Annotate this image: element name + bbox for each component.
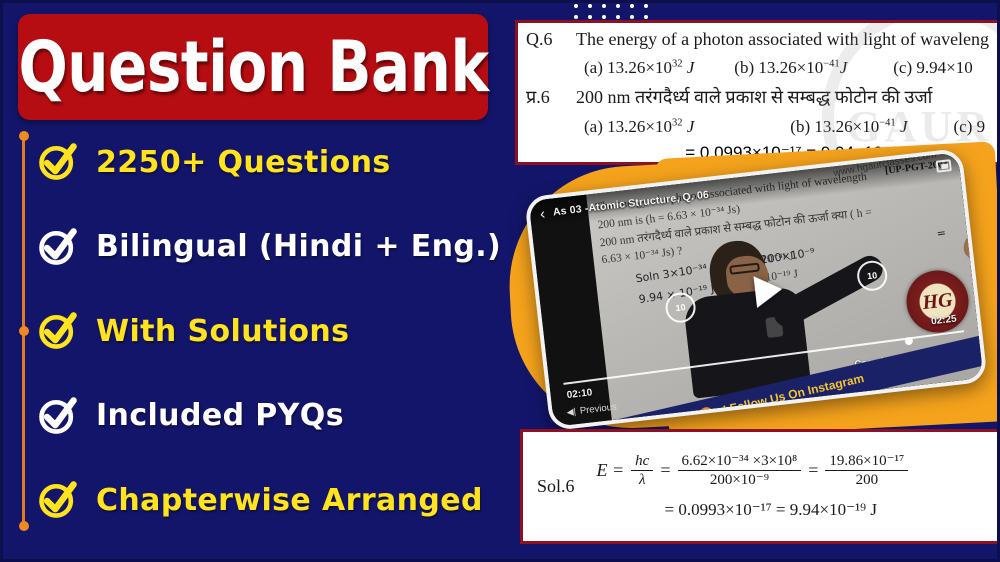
question-en-row: Q.6 The energy of a photon associated wi…	[518, 29, 1000, 50]
play-icon[interactable]	[753, 273, 783, 308]
question-hi-tag: प्र.6	[518, 85, 576, 109]
option-a: (a) 13.26×1032 J	[584, 117, 694, 137]
equals-1: =	[660, 460, 670, 481]
right-panel: GAUR Q.6 The energy of a photon associat…	[512, 0, 1000, 562]
title-card: Question Bank	[18, 14, 488, 120]
question-hi-options: (a) 13.26×1032 J (b) 13.26×10−41 J (c) 9	[518, 117, 1000, 137]
solution-equation-line-2: = 0.0993×10⁻¹⁷ = 9.94×10⁻¹⁹ J	[597, 500, 909, 520]
time-elapsed: 02:10	[566, 387, 593, 401]
equals-2: =	[808, 460, 818, 481]
solution-final: = 0.0993×10⁻¹⁷ = 9.94×10⁻¹⁹ J	[665, 500, 877, 520]
page-title: Question Bank	[18, 32, 488, 102]
solution-tag: Sol.6	[537, 476, 575, 497]
solution-body: E = hc λ = 6.62×10⁻³⁴ ×3×10⁸ 200×10⁻⁹ = …	[597, 453, 909, 520]
question-card: GAUR Q.6 The energy of a photon associat…	[515, 20, 1000, 165]
rewind-label: 10	[675, 302, 686, 313]
previous-icon: ◀|	[566, 406, 576, 418]
question-hi-text: 200 nm तरंगदैर्ध्य वाले प्रकाश से सम्बद्…	[576, 85, 932, 109]
board-sol-label: Soln	[635, 269, 660, 285]
list-item: With Solutions	[36, 300, 506, 362]
question-en-tag: Q.6	[518, 29, 576, 50]
feature-label: Included PYQs	[96, 398, 344, 433]
fraction-numerator: 19.86×10⁻¹⁷	[825, 453, 908, 471]
feature-label: Bilingual (Hindi + Eng.)	[96, 229, 501, 264]
brand-logo-text: HG	[921, 288, 953, 314]
question-hi-row: प्र.6 200 nm तरंगदैर्ध्य वाले प्रकाश से …	[518, 85, 1000, 109]
fraction-values: 6.62×10⁻³⁴ ×3×10⁸ 200×10⁻⁹	[678, 453, 802, 488]
fraction-denominator: 200	[852, 471, 883, 488]
question-en-text: The energy of a photon associated with l…	[576, 29, 989, 50]
feature-label: 2250+ Questions	[96, 145, 391, 180]
list-item: 2250+ Questions	[36, 131, 506, 193]
previous-button[interactable]: ◀| Previous	[566, 402, 617, 419]
fraction-numerator: hc	[631, 453, 653, 471]
feature-label: Chapterwise Arranged	[96, 483, 483, 518]
list-item: Chapterwise Arranged	[36, 469, 506, 531]
timeline-dot-top	[19, 131, 29, 141]
option-a: (a) 13.26×1032 J	[584, 58, 694, 78]
left-panel: Question Bank 2250+ Questions Bilingua	[0, 0, 512, 562]
forward-label: 10	[867, 270, 878, 281]
check-circle-icon	[36, 478, 80, 522]
list-item: Included PYQs	[36, 385, 506, 447]
picture-in-picture-icon[interactable]	[936, 159, 952, 173]
list-item: Bilingual (Hindi + Eng.)	[36, 216, 506, 278]
option-b: (b) 13.26×10−41 J	[790, 117, 907, 137]
check-circle-icon	[36, 140, 80, 184]
fraction-numerator: 6.62×10⁻³⁴ ×3×10⁸	[678, 453, 802, 471]
feature-label: With Solutions	[96, 314, 349, 349]
fraction-hc-lambda: hc λ	[631, 453, 653, 488]
fraction-denominator: 200×10⁻⁹	[706, 471, 773, 488]
fraction-result: 19.86×10⁻¹⁷ 200	[825, 453, 908, 488]
check-circle-icon	[36, 394, 80, 438]
dot-grid-decoration	[574, 4, 648, 19]
option-c: (c) 9	[954, 117, 986, 137]
timeline-dot-bottom	[19, 521, 29, 531]
timeline-rail	[22, 136, 25, 526]
option-b: (b) 13.26×10−41J	[734, 58, 847, 78]
solution-card: Sol.6 E = hc λ = 6.62×10⁻³⁴ ×3×10⁸ 200×1…	[520, 429, 1000, 544]
solution-equation-line-1: E = hc λ = 6.62×10⁻³⁴ ×3×10⁸ 200×10⁻⁹ = …	[597, 453, 909, 488]
promo-banner-root: Question Bank 2250+ Questions Bilingua	[0, 0, 1000, 562]
check-circle-icon	[36, 309, 80, 353]
chevron-left-icon[interactable]: ‹	[539, 206, 546, 221]
option-c: (c) 9.94×10	[893, 58, 972, 78]
question-en-options: (a) 13.26×1032 J (b) 13.26×10−41J (c) 9.…	[518, 58, 1000, 78]
teacher-figure	[671, 231, 837, 397]
video-player[interactable]: www.hgaurclasses.com [UP-PGT-2003] The e…	[529, 152, 984, 426]
fraction-denominator: λ	[635, 471, 650, 488]
timeline-dot-middle	[19, 326, 29, 336]
check-circle-icon	[36, 225, 80, 269]
feature-list: 2250+ Questions Bilingual (Hindi + Eng.)…	[36, 131, 506, 531]
solution-lhs: E =	[597, 460, 625, 481]
phone-mockup: www.hgaurclasses.com [UP-PGT-2003] The e…	[524, 148, 988, 431]
